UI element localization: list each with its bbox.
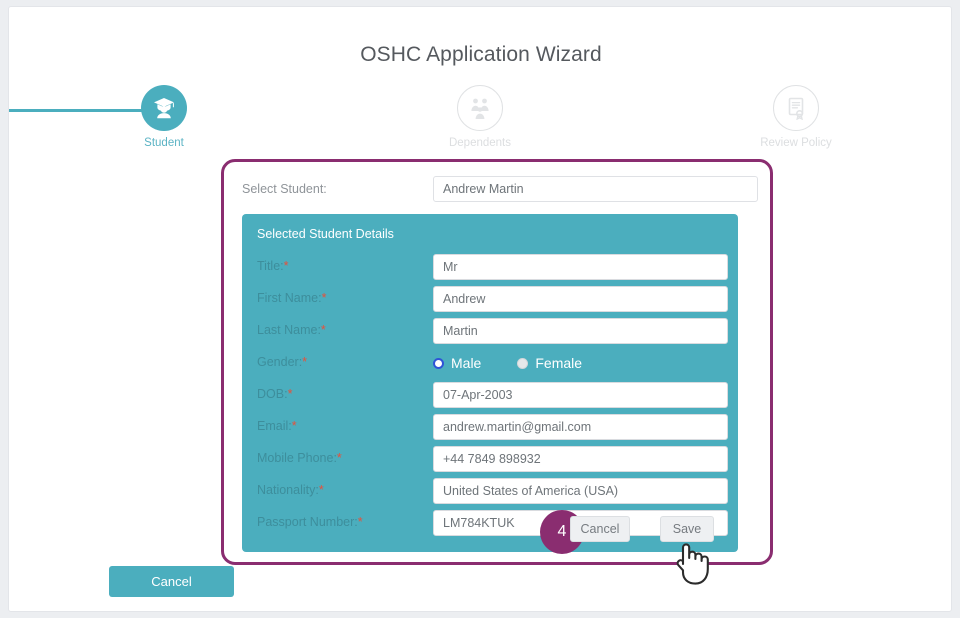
form-action-bar: 4 Cancel Save — [242, 510, 738, 552]
page-title: OSHC Application Wizard — [9, 43, 952, 67]
gender-radio-group: Male Female — [433, 350, 618, 376]
gender-option-male[interactable]: Male — [433, 355, 481, 371]
gender-option-female[interactable]: Female — [517, 355, 582, 371]
field-input-title[interactable]: Mr — [433, 254, 728, 280]
family-group-icon — [468, 96, 492, 120]
required-marker: * — [284, 259, 289, 273]
selected-student-details-heading: Selected Student Details — [257, 227, 394, 241]
gender-option-male-label: Male — [451, 355, 481, 371]
field-label-gender: Gender:* — [257, 355, 307, 369]
student-graduate-icon — [151, 95, 177, 121]
field-row-last-name: Last Name:* Martin — [242, 318, 738, 344]
field-input-first-name[interactable]: Andrew — [433, 286, 728, 312]
required-marker: * — [319, 483, 324, 497]
wizard-stepper: Student Dependents — [9, 85, 952, 155]
field-input-nationality[interactable]: United States of America (USA) — [433, 478, 728, 504]
select-student-row: Select Student: Andrew Martin — [242, 176, 758, 210]
wizard-cancel-button[interactable]: Cancel — [109, 566, 234, 597]
student-step-circle[interactable] — [141, 85, 187, 131]
field-row-mobile-phone: Mobile Phone:* +44 7849 898932 — [242, 446, 738, 472]
select-student-input[interactable]: Andrew Martin — [433, 176, 758, 202]
stepper-step-student[interactable]: Student — [104, 85, 224, 149]
review-policy-step-circle[interactable] — [773, 85, 819, 131]
form-save-button[interactable]: Save — [660, 516, 714, 542]
field-label-dob: DOB:* — [257, 387, 292, 401]
field-label-title: Title:* — [257, 259, 289, 273]
field-row-title: Title:* Mr — [242, 254, 738, 280]
field-label-nationality: Nationality:* — [257, 483, 324, 497]
field-label-last-name: Last Name:* — [257, 323, 326, 337]
field-label-email: Email:* — [257, 419, 297, 433]
stepper-step-student-label: Student — [104, 137, 224, 149]
selected-student-details-section: Selected Student Details Title:* Mr Firs… — [242, 214, 738, 552]
stepper-step-dependents[interactable]: Dependents — [420, 85, 540, 149]
stepper-step-review-policy-label: Review Policy — [736, 137, 856, 149]
required-marker: * — [292, 419, 297, 433]
field-row-dob: DOB:* 07-Apr-2003 — [242, 382, 738, 408]
required-marker: * — [302, 355, 307, 369]
form-cancel-button[interactable]: Cancel — [570, 516, 630, 542]
student-form-panel: Select Student: Andrew Martin Selected S… — [221, 159, 773, 565]
dependents-step-circle[interactable] — [457, 85, 503, 131]
field-input-dob[interactable]: 07-Apr-2003 — [433, 382, 728, 408]
field-label-mobile-phone: Mobile Phone:* — [257, 451, 342, 465]
radio-selected-icon[interactable] — [433, 358, 444, 369]
field-input-last-name[interactable]: Martin — [433, 318, 728, 344]
field-input-email[interactable]: andrew.martin@gmail.com — [433, 414, 728, 440]
field-row-first-name: First Name:* Andrew — [242, 286, 738, 312]
field-row-gender: Gender:* Male Female — [242, 350, 738, 376]
field-row-nationality: Nationality:* United States of America (… — [242, 478, 738, 504]
required-marker: * — [322, 291, 327, 305]
stepper-step-review-policy[interactable]: Review Policy — [736, 85, 856, 149]
field-label-first-name: First Name:* — [257, 291, 326, 305]
gender-option-female-label: Female — [535, 355, 582, 371]
field-input-mobile-phone[interactable]: +44 7849 898932 — [433, 446, 728, 472]
application-card: OSHC Application Wizard Student — [8, 6, 952, 612]
stepper-step-dependents-label: Dependents — [420, 137, 540, 149]
field-row-email: Email:* andrew.martin@gmail.com — [242, 414, 738, 440]
certificate-icon — [784, 96, 808, 120]
required-marker: * — [288, 387, 293, 401]
select-student-label: Select Student: — [242, 182, 327, 196]
required-marker: * — [321, 323, 326, 337]
required-marker: * — [337, 451, 342, 465]
radio-unselected-icon[interactable] — [517, 358, 528, 369]
